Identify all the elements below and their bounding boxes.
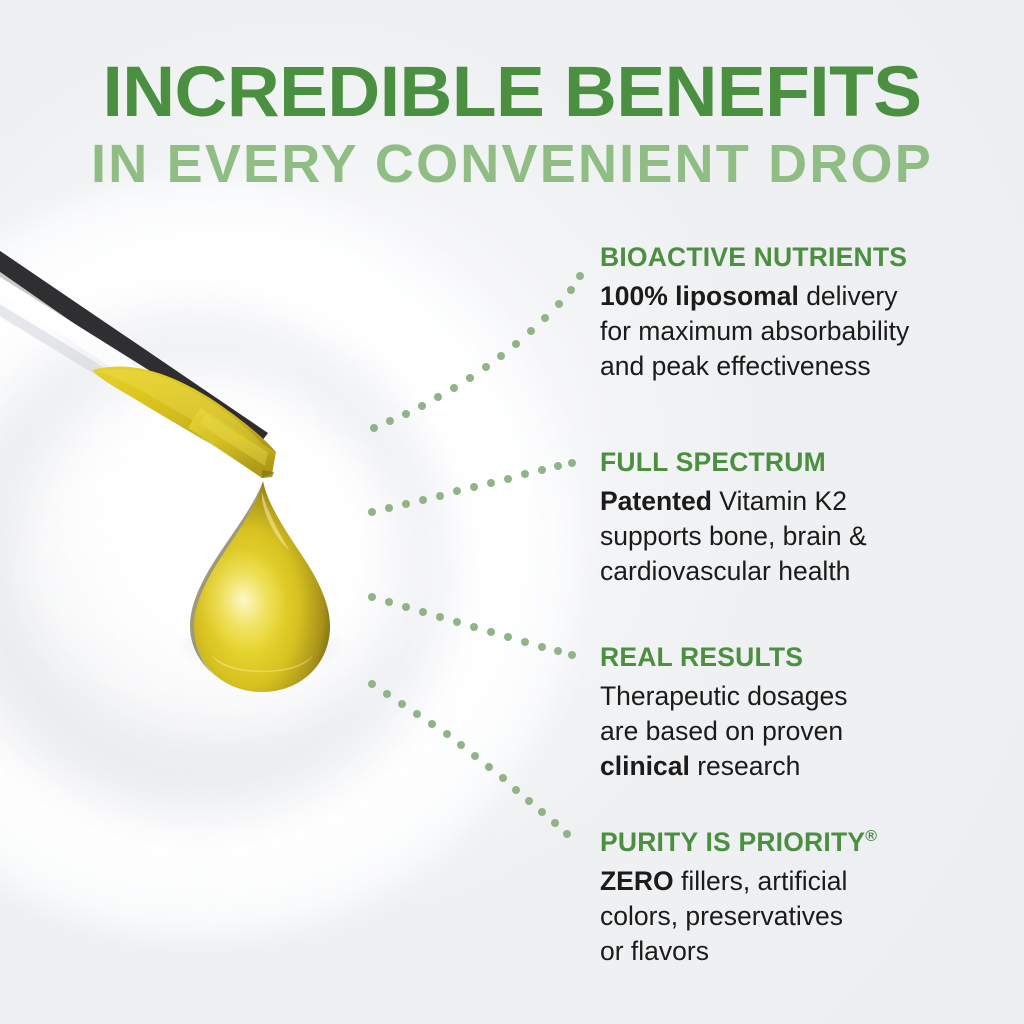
benefit-text-4c: or flavors xyxy=(600,936,709,966)
benefit-heading-1: BIOACTIVE NUTRIENTS xyxy=(600,243,1020,272)
connector-line-4 xyxy=(368,680,571,838)
registered-trademark-icon: ® xyxy=(865,828,877,845)
page-title: INCREDIBLE BENEFITS IN EVERY CONVENIENT … xyxy=(0,58,1024,192)
infographic-canvas: INCREDIBLE BENEFITS IN EVERY CONVENIENT … xyxy=(0,0,1024,1024)
benefit-bold-4: ZERO xyxy=(600,866,674,896)
benefit-body-4: ZERO fillers, artificial colors, preserv… xyxy=(600,864,1020,969)
benefit-heading-4-text: PURITY IS PRIORITY xyxy=(600,827,865,857)
benefit-body-3: Therapeutic dosages are based on proven … xyxy=(600,679,1020,784)
benefit-body-2: Patented Vitamin K2 supports bone, brain… xyxy=(600,484,1020,589)
benefit-item-2: FULL SPECTRUM Patented Vitamin K2 suppor… xyxy=(600,448,1020,589)
benefit-bold-1: 100% liposomal xyxy=(600,281,799,311)
benefit-text-2b: supports bone, brain & xyxy=(600,521,867,551)
benefit-text-1a: delivery xyxy=(799,281,898,311)
benefit-text-3b: are based on proven xyxy=(600,716,843,746)
benefit-text-1c: and peak effectiveness xyxy=(600,351,871,381)
benefit-text-4b: colors, preservatives xyxy=(600,901,843,931)
title-line-1: INCREDIBLE BENEFITS xyxy=(0,58,1024,128)
benefit-text-3c: research xyxy=(690,751,800,781)
benefit-body-1: 100% liposomal delivery for maximum abso… xyxy=(600,279,1020,384)
benefit-item-4: PURITY IS PRIORITY® ZERO fillers, artifi… xyxy=(600,828,1020,969)
benefit-bold-2: Patented xyxy=(600,486,712,516)
benefit-item-1: BIOACTIVE NUTRIENTS 100% liposomal deliv… xyxy=(600,243,1020,384)
benefit-heading-2: FULL SPECTRUM xyxy=(600,448,1020,477)
benefit-item-3: REAL RESULTS Therapeutic dosages are bas… xyxy=(600,643,1020,784)
background-glow xyxy=(0,120,520,760)
benefit-text-1b: for maximum absorbability xyxy=(600,316,909,346)
benefit-text-3a: Therapeutic dosages xyxy=(600,681,848,711)
benefit-bold-3: clinical xyxy=(600,751,690,781)
benefit-text-4a: fillers, artificial xyxy=(674,866,848,896)
benefit-text-2a: Vitamin K2 xyxy=(712,486,847,516)
benefit-text-2c: cardiovascular health xyxy=(600,556,850,586)
benefit-heading-3: REAL RESULTS xyxy=(600,643,1020,672)
benefit-heading-4: PURITY IS PRIORITY® xyxy=(600,828,1020,857)
title-line-2: IN EVERY CONVENIENT DROP xyxy=(0,136,1024,193)
